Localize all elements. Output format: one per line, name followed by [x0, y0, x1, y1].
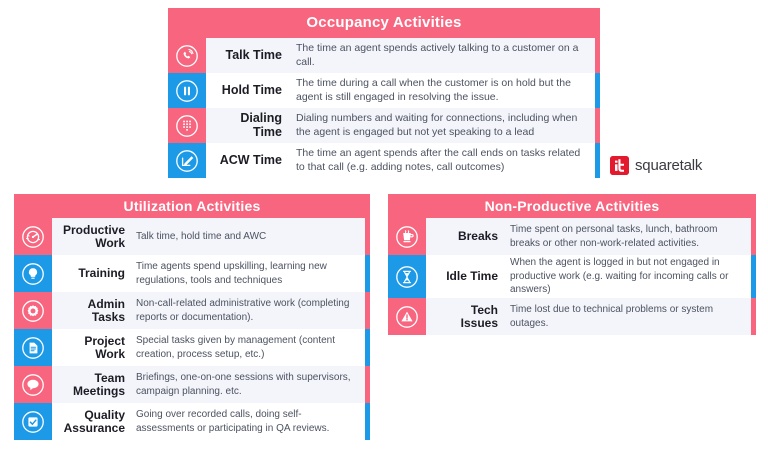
- table-row: Productive Work Talk time, hold time and…: [14, 218, 370, 255]
- row-description: Time spent on personal tasks, lunch, bat…: [504, 218, 751, 255]
- row-label-line1: Idle Time: [446, 270, 498, 283]
- table-row: Admin Tasks Non-call-related administrat…: [14, 292, 370, 329]
- non-productive-activities-panel: Non-Productive Activities Breaks Time sp…: [388, 194, 756, 335]
- row-label-line2: Work: [84, 348, 125, 361]
- nonproductive-rows: Breaks Time spent on personal tasks, lun…: [388, 218, 756, 335]
- row-description: Time lost due to technical problems or s…: [504, 298, 751, 335]
- row-description: Dialing numbers and waiting for connecti…: [288, 108, 595, 143]
- table-row: Breaks Time spent on personal tasks, lun…: [388, 218, 756, 255]
- note-edit-icon: [168, 143, 206, 178]
- row-accent-bar: [751, 218, 756, 255]
- row-label: Breaks: [426, 218, 504, 255]
- row-label-line1: Tech: [461, 304, 498, 317]
- row-accent-bar: [595, 38, 600, 73]
- phone-ringing-icon: [168, 38, 206, 73]
- row-label-line2: Meetings: [73, 385, 125, 398]
- row-label: Training: [52, 255, 130, 292]
- row-label: Dialing Time: [206, 108, 288, 143]
- row-label-line1: Talk Time: [225, 49, 282, 63]
- row-label: Project Work: [52, 329, 130, 366]
- row-label-line1: Quality: [64, 409, 125, 422]
- document-icon: [14, 329, 52, 366]
- coffee-cup-icon: [388, 218, 426, 255]
- row-label-line1: Breaks: [458, 230, 498, 243]
- row-label: Tech Issues: [426, 298, 504, 335]
- warning-triangle-icon: [388, 298, 426, 335]
- table-row: Project Work Special tasks given by mana…: [14, 329, 370, 366]
- gear-icon: [14, 292, 52, 329]
- row-accent-bar: [751, 255, 756, 298]
- table-row: Training Time agents spend upskilling, l…: [14, 255, 370, 292]
- row-label-line1: Dialing: [240, 112, 282, 126]
- row-accent-bar: [365, 366, 370, 403]
- row-label: Talk Time: [206, 38, 288, 73]
- hourglass-icon: [388, 255, 426, 298]
- panel-title-non-productive: Non-Productive Activities: [388, 194, 756, 218]
- dialpad-icon: [168, 108, 206, 143]
- row-label-line1: Productive: [63, 224, 125, 237]
- row-label: Quality Assurance: [52, 403, 130, 440]
- row-accent-bar: [595, 143, 600, 178]
- checkbox-icon: [14, 403, 52, 440]
- row-label-line2: Tasks: [88, 311, 125, 324]
- squaretalk-logo-mark: [610, 156, 629, 175]
- table-row: Dialing Time Dialing numbers and waiting…: [168, 108, 600, 143]
- row-label-line1: Admin: [88, 298, 125, 311]
- row-description: Special tasks given by management (conte…: [130, 329, 365, 366]
- row-label: Productive Work: [52, 218, 130, 255]
- row-label-line2: Issues: [461, 317, 498, 330]
- panel-title-utilization: Utilization Activities: [14, 194, 370, 218]
- row-label: Idle Time: [426, 255, 504, 298]
- row-label-line1: Team: [73, 372, 125, 385]
- row-accent-bar: [365, 255, 370, 292]
- row-label-line1: Training: [78, 267, 125, 280]
- table-row: Hold Time The time during a call when th…: [168, 73, 600, 108]
- pause-icon: [168, 73, 206, 108]
- table-row: Tech Issues Time lost due to technical p…: [388, 298, 756, 335]
- logo-glyph-icon: [610, 156, 629, 175]
- row-label-line2: Work: [63, 237, 125, 250]
- row-description: Time agents spend upskilling, learning n…: [130, 255, 365, 292]
- row-description: The time an agent spends after the call …: [288, 143, 595, 178]
- row-label-line1: Hold Time: [222, 84, 282, 98]
- row-accent-bar: [365, 292, 370, 329]
- table-row: Talk Time The time an agent spends activ…: [168, 38, 600, 73]
- table-row: Team Meetings Briefings, one-on-one sess…: [14, 366, 370, 403]
- table-row: Quality Assurance Going over recorded ca…: [14, 403, 370, 440]
- row-label-line2: Time: [240, 126, 282, 140]
- row-accent-bar: [365, 403, 370, 440]
- row-accent-bar: [365, 329, 370, 366]
- occupancy-rows: Talk Time The time an agent spends activ…: [168, 38, 600, 178]
- row-label: Team Meetings: [52, 366, 130, 403]
- row-accent-bar: [595, 108, 600, 143]
- row-description: Going over recorded calls, doing self-as…: [130, 403, 365, 440]
- row-description: The time an agent spends actively talkin…: [288, 38, 595, 73]
- lightbulb-icon: [14, 255, 52, 292]
- row-label-line2: Assurance: [64, 422, 125, 435]
- row-label: Hold Time: [206, 73, 288, 108]
- panel-title-occupancy: Occupancy Activities: [168, 8, 600, 38]
- table-row: Idle Time When the agent is logged in bu…: [388, 255, 756, 298]
- squaretalk-wordmark: squaretalk: [635, 157, 702, 174]
- row-label: Admin Tasks: [52, 292, 130, 329]
- squaretalk-logo: squaretalk: [610, 156, 702, 175]
- table-row: ACW Time The time an agent spends after …: [168, 143, 600, 178]
- row-accent-bar: [595, 73, 600, 108]
- row-accent-bar: [751, 298, 756, 335]
- row-description: Briefings, one-on-one sessions with supe…: [130, 366, 365, 403]
- utilization-rows: Productive Work Talk time, hold time and…: [14, 218, 370, 440]
- row-description: When the agent is logged in but not enga…: [504, 255, 751, 298]
- row-label: ACW Time: [206, 143, 288, 178]
- row-label-line1: Project: [84, 335, 125, 348]
- row-accent-bar: [365, 218, 370, 255]
- speech-bubble-icon: [14, 366, 52, 403]
- row-description: The time during a call when the customer…: [288, 73, 595, 108]
- speedometer-icon: [14, 218, 52, 255]
- row-description: Talk time, hold time and AWC: [130, 218, 365, 255]
- row-description: Non-call-related administrative work (co…: [130, 292, 365, 329]
- utilization-activities-panel: Utilization Activities Productive Work T…: [14, 194, 370, 440]
- occupancy-activities-panel: Occupancy Activities Talk Time The time …: [168, 8, 600, 178]
- row-label-line1: ACW Time: [220, 154, 282, 168]
